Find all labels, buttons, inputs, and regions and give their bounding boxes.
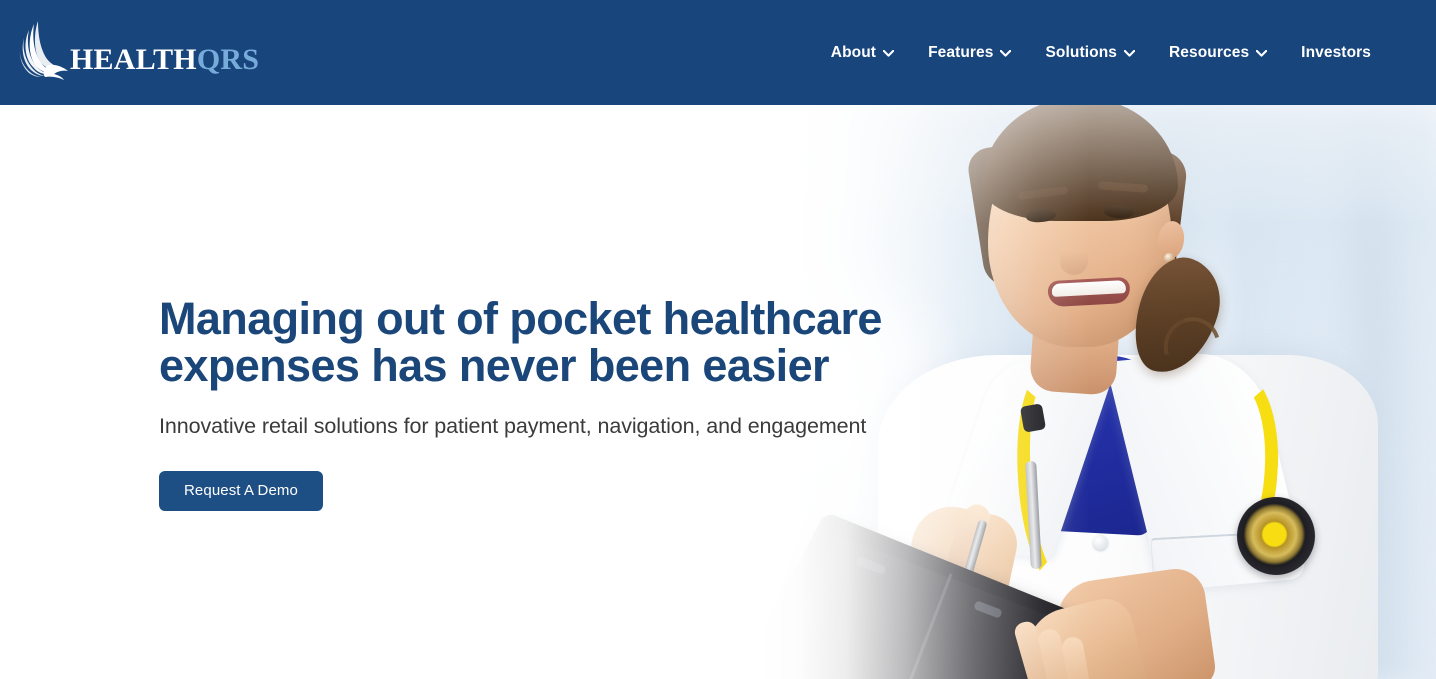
nav-item-resources[interactable]: Resources <box>1152 38 1284 68</box>
nav-item-investors-label: Investors <box>1301 44 1371 62</box>
hero-copy: Managing out of pocket healthcare expens… <box>159 295 919 511</box>
logo-text-health: HEALTH <box>70 43 197 76</box>
chevron-down-icon <box>1256 50 1267 57</box>
nav-item-features[interactable]: Features <box>911 38 1028 68</box>
lab-coat-button <box>1093 535 1108 550</box>
nav-item-features-label: Features <box>928 44 993 62</box>
nav-item-solutions-label: Solutions <box>1045 44 1117 62</box>
stethoscope-chestpiece <box>1237 497 1315 575</box>
nav-item-about[interactable]: About <box>814 38 911 68</box>
hair-top <box>982 105 1178 221</box>
hero-section: Managing out of pocket healthcare expens… <box>0 105 1436 679</box>
logo-wordmark: HEALTHQRS <box>70 43 259 77</box>
logo[interactable]: HEALTHQRS <box>18 14 259 92</box>
request-demo-button[interactable]: Request A Demo <box>159 471 323 511</box>
wing-icon <box>18 20 72 86</box>
nav-item-about-label: About <box>831 44 876 62</box>
nose <box>1060 223 1088 275</box>
page-title: Managing out of pocket healthcare expens… <box>159 295 889 390</box>
nav-item-investors[interactable]: Investors <box>1284 38 1388 68</box>
stethoscope-clip <box>1020 403 1046 432</box>
chevron-down-icon <box>883 50 894 57</box>
mouth <box>1047 277 1130 307</box>
logo-text-qrs: QRS <box>197 43 259 76</box>
teeth <box>1052 280 1127 297</box>
site-header: HEALTHQRS About Features Solutions Resou… <box>0 0 1436 105</box>
chevron-down-icon <box>1000 50 1011 57</box>
nav-item-resources-label: Resources <box>1169 44 1249 62</box>
nav-item-solutions[interactable]: Solutions <box>1028 38 1152 68</box>
hero-subtitle: Innovative retail solutions for patient … <box>159 412 919 441</box>
main-navigation: About Features Solutions Resources Inves <box>814 0 1388 105</box>
chevron-down-icon <box>1124 50 1135 57</box>
